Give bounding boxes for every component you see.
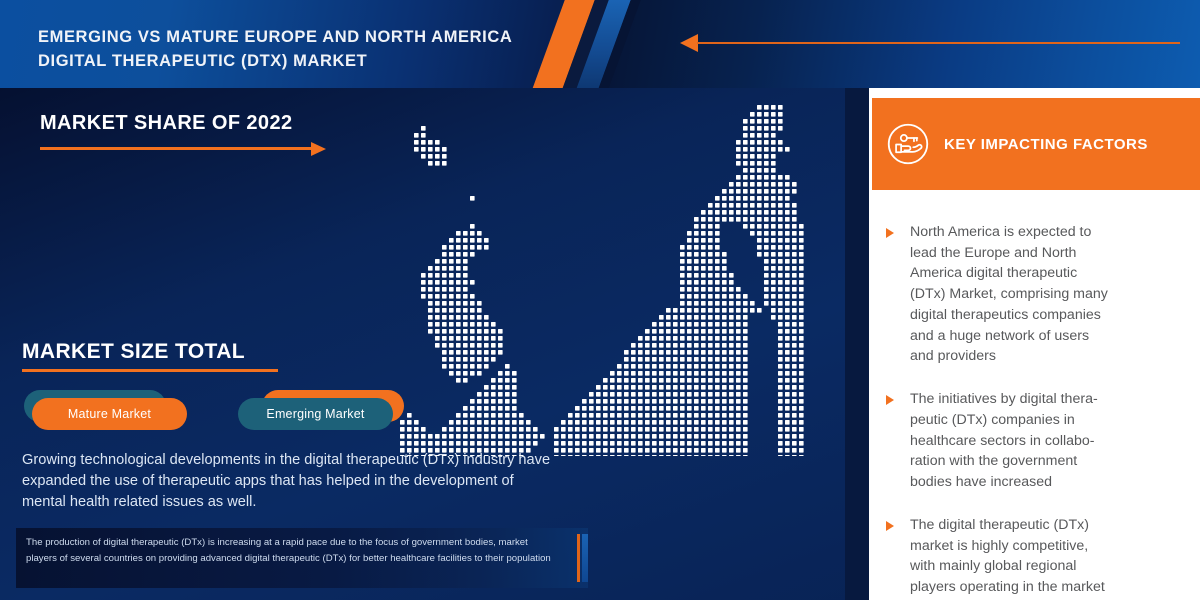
- arrow-left-icon: [680, 34, 698, 52]
- lead-paragraph: Growing technological developments in th…: [22, 450, 552, 513]
- market-share-arrow-line: [40, 147, 312, 150]
- legend-item-mature-market[interactable]: Mature Market: [32, 398, 187, 430]
- footnote-accent-bar-orange: [577, 534, 580, 582]
- infographic-root: EMERGING VS MATURE EUROPE AND NORTH AMER…: [0, 0, 1200, 600]
- page-title: EMERGING VS MATURE EUROPE AND NORTH AMER…: [38, 26, 518, 74]
- footnote-band: The production of digital therapeutic (D…: [16, 528, 588, 588]
- bullet-text-line: market is highly competitive,: [910, 536, 1184, 557]
- legend-label-emerging: Emerging Market: [266, 407, 364, 421]
- europe-dotted-map: [398, 96, 838, 456]
- legend-item-emerging-market[interactable]: Emerging Market: [238, 398, 393, 430]
- legend: Mature Market Emerging Market: [18, 388, 418, 442]
- bullet-text-line: The initiatives by digital thera-: [910, 389, 1184, 410]
- market-share-section: MARKET SHARE OF 2022: [40, 112, 310, 135]
- market-size-section: MARKET SIZE TOTAL: [22, 340, 322, 372]
- bullet-text-line: lead the Europe and North: [910, 243, 1184, 264]
- footnote-accent-bar-blue: [582, 534, 588, 582]
- hand-holding-key-icon: [886, 122, 930, 166]
- bullet-text-line: players operating in the market: [910, 577, 1184, 598]
- bullet-text-line: North America is expected to: [910, 222, 1184, 243]
- header-band: EMERGING VS MATURE EUROPE AND NORTH AMER…: [0, 0, 1200, 88]
- bullet-text-line: The digital therapeutic (DTx): [910, 515, 1184, 536]
- key-factor-bullet: The initiatives by digital thera-peutic …: [884, 389, 1184, 493]
- bullet-triangle-icon: [886, 395, 894, 405]
- legend-label-mature: Mature Market: [68, 407, 151, 421]
- key-factors-bullet-list: North America is expected tolead the Eur…: [884, 222, 1184, 600]
- header-arrow: [680, 34, 1180, 52]
- bullet-text-line: and providers: [910, 346, 1184, 367]
- header-arrow-line: [697, 42, 1180, 44]
- right-panel-rail: [845, 88, 871, 600]
- key-factors-header: KEY IMPACTING FACTORS: [872, 98, 1200, 190]
- bullet-text-line: peutic (DTx) companies in: [910, 410, 1184, 431]
- bullet-triangle-icon: [886, 521, 894, 531]
- market-share-title: MARKET SHARE OF 2022: [40, 112, 310, 135]
- arrow-right-icon: [311, 142, 326, 156]
- bullet-text-line: America digital therapeutic: [910, 263, 1184, 284]
- key-factor-bullet: North America is expected tolead the Eur…: [884, 222, 1184, 367]
- bullet-text-line: (DTx) Market, comprising many: [910, 284, 1184, 305]
- market-size-underline: [22, 369, 278, 372]
- bullet-text-line: with mainly global regional: [910, 556, 1184, 577]
- key-factor-bullet: The digital therapeutic (DTx)market is h…: [884, 515, 1184, 598]
- footnote-text: The production of digital therapeutic (D…: [26, 535, 556, 566]
- market-size-title: MARKET SIZE TOTAL: [22, 340, 322, 364]
- europe-map-svg: [398, 96, 838, 456]
- bullet-text-line: ration with the government: [910, 451, 1184, 472]
- bullet-text-line: digital therapeutics companies: [910, 305, 1184, 326]
- bullet-text-line: healthcare sectors in collabo-: [910, 431, 1184, 452]
- bullet-text-line: bodies have increased: [910, 472, 1184, 493]
- bullet-text-line: and a huge network of users: [910, 326, 1184, 347]
- key-factors-title: KEY IMPACTING FACTORS: [944, 136, 1148, 153]
- bullet-triangle-icon: [886, 228, 894, 238]
